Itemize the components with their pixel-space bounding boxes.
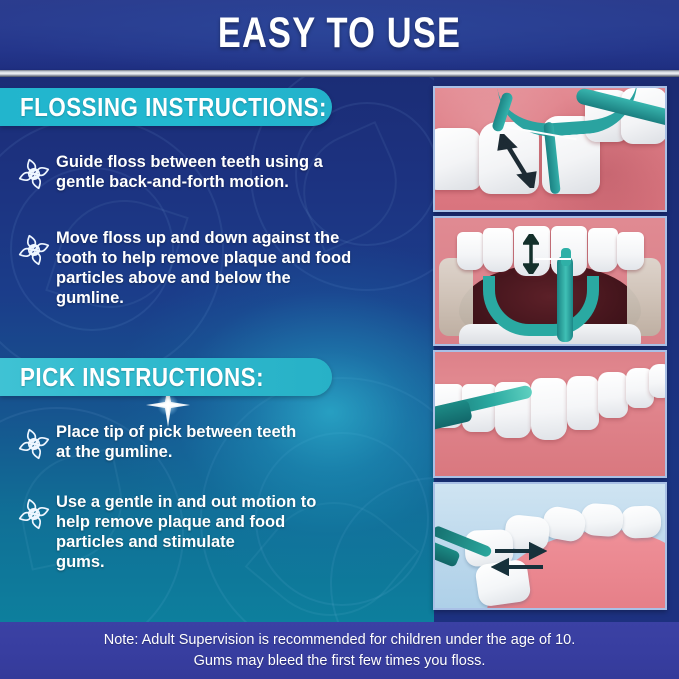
tooth xyxy=(435,128,481,190)
scene-floss-up-and-down xyxy=(435,218,665,344)
bullet-item: Place tip of pick between teeth at the g… xyxy=(14,422,414,469)
bullet-text: Move floss up and down against the tooth… xyxy=(56,228,351,308)
footer-note-line-1: Note: Adult Supervision is recommended f… xyxy=(104,630,576,650)
instruction-image-3 xyxy=(433,350,667,478)
floss-pick-tip xyxy=(561,248,571,266)
tooth xyxy=(580,503,624,538)
scene-pick-in-and-out xyxy=(435,484,665,608)
infographic-page: EASY TO USE xyxy=(0,0,679,679)
tooth xyxy=(457,232,484,270)
bullet-text: Guide floss between teeth using a gentle… xyxy=(56,152,323,192)
double-headed-vertical-arrow-icon xyxy=(523,234,539,274)
tooth xyxy=(567,376,599,430)
scene-pick-at-gumline xyxy=(435,352,665,476)
header-divider xyxy=(0,70,679,77)
tooth xyxy=(483,228,513,272)
tooth xyxy=(620,505,661,538)
opposing-horizontal-arrows-icon xyxy=(491,542,547,576)
floss-flower-icon xyxy=(14,424,56,469)
floss-flower-icon xyxy=(14,154,56,199)
instruction-image-1 xyxy=(433,86,667,212)
page-title: EASY TO USE xyxy=(68,8,611,58)
tooth xyxy=(531,378,567,440)
section-header-flossing-label: FLOSSING INSTRUCTIONS: xyxy=(20,92,327,123)
bullet-text: Place tip of pick between teeth at the g… xyxy=(56,422,296,462)
double-headed-diagonal-arrow-icon xyxy=(497,134,537,188)
footer-note-line-2: Gums may bleed the first few times you f… xyxy=(194,651,486,671)
instruction-image-2 xyxy=(433,216,667,346)
section-header-flossing: FLOSSING INSTRUCTIONS: xyxy=(0,88,332,126)
floss-pick-handle xyxy=(557,256,573,342)
tooth xyxy=(617,232,644,270)
footer-note: Note: Adult Supervision is recommended f… xyxy=(0,622,679,679)
bullet-item: Move floss up and down against the tooth… xyxy=(14,228,426,308)
bullet-item: Use a gentle in and out motion to help r… xyxy=(14,492,414,572)
floss-string xyxy=(535,258,571,260)
tooth xyxy=(598,372,628,418)
tooth xyxy=(588,228,618,272)
instruction-image-4 xyxy=(433,482,667,610)
section-header-pick: PICK INSTRUCTIONS: xyxy=(0,358,332,396)
floss-flower-icon xyxy=(14,230,56,275)
bullet-item: Guide floss between teeth using a gentle… xyxy=(14,152,414,199)
scene-floss-between-teeth xyxy=(435,88,665,210)
tooth xyxy=(649,364,665,398)
header-banner: EASY TO USE xyxy=(0,0,679,72)
bullet-text: Use a gentle in and out motion to help r… xyxy=(56,492,316,572)
section-header-pick-label: PICK INSTRUCTIONS: xyxy=(20,362,264,393)
floss-flower-icon xyxy=(14,494,56,539)
